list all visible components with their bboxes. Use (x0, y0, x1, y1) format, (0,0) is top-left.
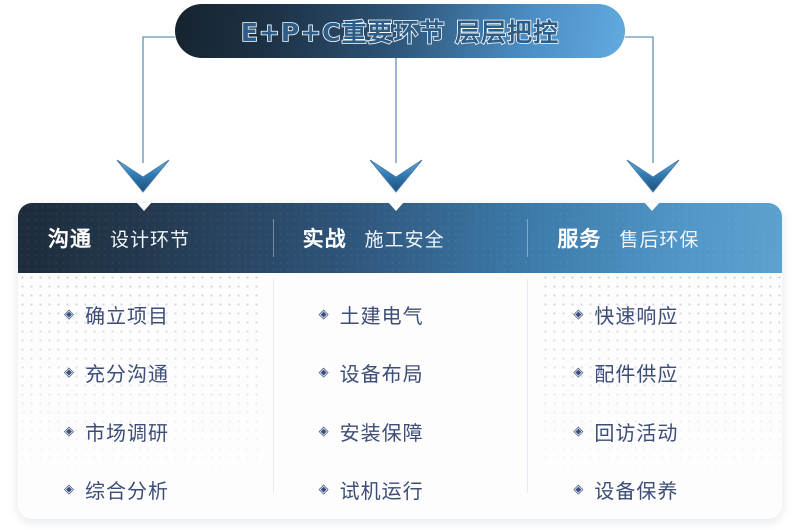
list-item-label: 回访活动 (594, 417, 678, 446)
title-pill-text: E+P+C重要环节 层层把控 (241, 13, 559, 49)
header-subtitle-communication: 设计环节 (110, 225, 190, 252)
list-item[interactable]: ◈ 充分沟通 (18, 358, 273, 387)
diamond-bullet-icon: ◈ (319, 308, 329, 321)
header-section-execution[interactable]: 实战 施工安全 (273, 203, 528, 273)
header-subtitle-execution: 施工安全 (365, 225, 445, 252)
arrow-head-right (627, 160, 679, 192)
card-body: ◈ 确立项目 ◈ 充分沟通 ◈ 市场调研 ◈ 综合分析 ◈ 土建电气 ◈ (18, 273, 782, 519)
arrow-head-left (117, 160, 169, 192)
list-item-label: 市场调研 (85, 417, 169, 446)
arrow-head-center (370, 160, 422, 192)
column-communication: ◈ 确立项目 ◈ 充分沟通 ◈ 市场调研 ◈ 综合分析 (18, 273, 273, 519)
list-item-label: 确立项目 (85, 300, 169, 329)
diamond-bullet-icon: ◈ (64, 425, 74, 438)
process-card: 沟通 设计环节 实战 施工安全 服务 售后环保 ◈ 确立项目 ◈ 充分沟通 ◈ … (18, 203, 782, 519)
diamond-bullet-icon: ◈ (319, 425, 329, 438)
header-title-communication: 沟通 (48, 223, 92, 253)
column-service: ◈ 快速响应 ◈ 配件供应 ◈ 回访活动 ◈ 设备保养 (527, 273, 782, 519)
diamond-bullet-icon: ◈ (319, 366, 329, 379)
list-item-label: 设备布局 (340, 358, 424, 387)
list-item[interactable]: ◈ 安装保障 (273, 417, 528, 446)
list-item[interactable]: ◈ 回访活动 (527, 417, 782, 446)
diamond-bullet-icon: ◈ (64, 308, 74, 321)
list-item-label: 试机运行 (340, 475, 424, 504)
list-item[interactable]: ◈ 综合分析 (18, 475, 273, 504)
diamond-bullet-icon: ◈ (64, 366, 74, 379)
header-subtitle-service: 售后环保 (619, 225, 699, 252)
list-item-label: 充分沟通 (85, 358, 169, 387)
list-item[interactable]: ◈ 配件供应 (527, 358, 782, 387)
connector-line-left (143, 37, 175, 163)
list-item[interactable]: ◈ 确立项目 (18, 300, 273, 329)
list-item-label: 安装保障 (340, 417, 424, 446)
list-item-label: 快速响应 (594, 300, 678, 329)
header-section-service[interactable]: 服务 售后环保 (527, 203, 782, 273)
diamond-bullet-icon: ◈ (573, 483, 583, 496)
list-item[interactable]: ◈ 快速响应 (527, 300, 782, 329)
connector-line-right (625, 37, 653, 163)
title-pill: E+P+C重要环节 层层把控 (175, 4, 625, 58)
list-item-label: 土建电气 (340, 300, 424, 329)
diamond-bullet-icon: ◈ (573, 425, 583, 438)
list-item-label: 综合分析 (85, 475, 169, 504)
list-item-label: 设备保养 (594, 475, 678, 504)
column-execution: ◈ 土建电气 ◈ 设备布局 ◈ 安装保障 ◈ 试机运行 (273, 273, 528, 519)
list-item[interactable]: ◈ 设备保养 (527, 475, 782, 504)
diamond-bullet-icon: ◈ (319, 483, 329, 496)
list-item-label: 配件供应 (594, 358, 678, 387)
header-title-service: 服务 (557, 223, 601, 253)
header-section-communication[interactable]: 沟通 设计环节 (18, 203, 273, 273)
list-item[interactable]: ◈ 土建电气 (273, 300, 528, 329)
list-item[interactable]: ◈ 设备布局 (273, 358, 528, 387)
card-header: 沟通 设计环节 实战 施工安全 服务 售后环保 (18, 203, 782, 273)
list-item[interactable]: ◈ 市场调研 (18, 417, 273, 446)
header-title-execution: 实战 (303, 223, 347, 253)
list-item[interactable]: ◈ 试机运行 (273, 475, 528, 504)
diamond-bullet-icon: ◈ (573, 366, 583, 379)
diamond-bullet-icon: ◈ (573, 308, 583, 321)
diamond-bullet-icon: ◈ (64, 483, 74, 496)
